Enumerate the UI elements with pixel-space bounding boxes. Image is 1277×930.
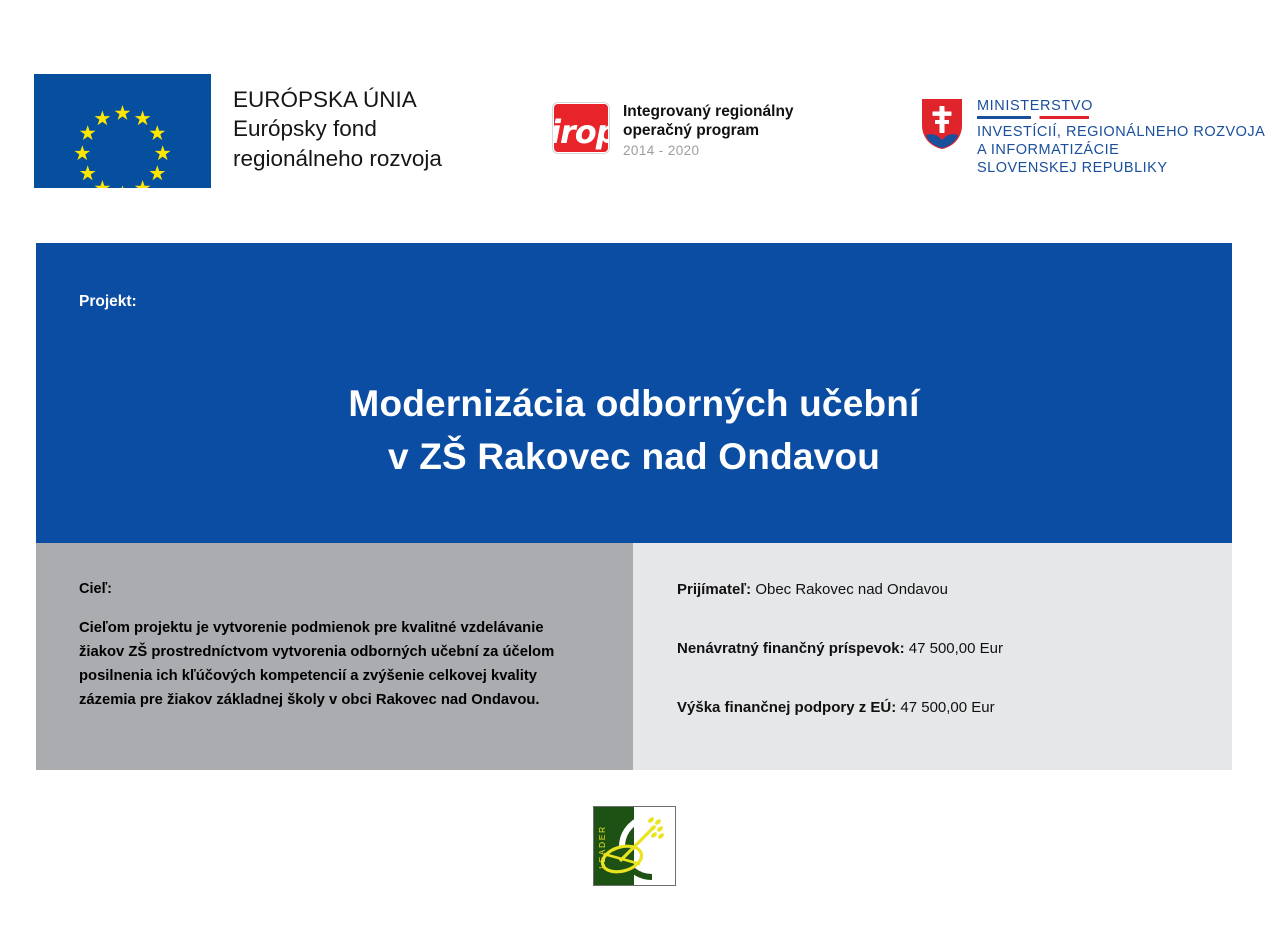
irop-wordmark: irop: [553, 116, 609, 148]
irop-logo-icon: irop: [551, 101, 609, 153]
info-label-beneficiary: Prijímateľ:: [677, 581, 751, 598]
irop-period: 2014 - 2020: [623, 143, 794, 158]
logo-header-strip: EURÓPSKA ÚNIA Európsky fond regionálneho…: [0, 0, 1277, 230]
info-row: Nenávratný finančný príspevok: 47 500,00…: [677, 640, 1232, 657]
leader-logo-block: LEADER: [593, 806, 676, 886]
info-label-grant: Nenávratný finančný príspevok:: [677, 640, 905, 657]
info-row: Výška finančnej podpory z EÚ: 47 500,00 …: [677, 699, 1232, 716]
ministry-logo-block: MINISTERSTVO INVESTÍCIÍ, REGIONÁLNEHO RO…: [920, 97, 1265, 178]
slovak-coat-of-arms-icon: [920, 97, 964, 151]
project-banner: Projekt: Modernizácia odborných učební v…: [36, 243, 1232, 543]
eu-line-2: Európsky fond: [233, 114, 442, 143]
info-row: Prijímateľ: Obec Rakovec nad Ondavou: [677, 581, 1232, 598]
project-title: Modernizácia odborných učební v ZŠ Rakov…: [36, 378, 1232, 483]
irop-line-1: Integrovaný regionálny: [623, 103, 794, 122]
eu-logo-text: EURÓPSKA ÚNIA Európsky fond regionálneho…: [233, 74, 442, 173]
leader-wordmark: LEADER: [597, 825, 607, 869]
info-value-eu-support: 47 500,00 Eur: [900, 699, 994, 716]
project-label: Projekt:: [79, 293, 137, 311]
project-title-line-2: v ZŠ Rakovec nad Ondavou: [36, 431, 1232, 484]
goal-heading: Cieľ:: [79, 581, 633, 597]
ministry-logo-text: MINISTERSTVO INVESTÍCIÍ, REGIONÁLNEHO RO…: [977, 97, 1265, 178]
ministry-line-3: SLOVENSKEJ REPUBLIKY: [977, 159, 1265, 177]
ministry-divider: [977, 116, 1089, 119]
info-value-beneficiary: Obec Rakovec nad Ondavou: [755, 581, 948, 598]
info-value-grant: 47 500,00 Eur: [909, 640, 1003, 657]
irop-logo-block: irop Integrovaný regionálny operačný pro…: [551, 101, 794, 158]
eu-line-3: regionálneho rozvoja: [233, 144, 442, 173]
info-panel: Prijímateľ: Obec Rakovec nad Ondavou Nen…: [633, 543, 1232, 770]
eu-logo-block: EURÓPSKA ÚNIA Európsky fond regionálneho…: [34, 74, 442, 188]
project-title-line-1: Modernizácia odborných učební: [36, 378, 1232, 431]
goal-panel: Cieľ: Cieľom projektu je vytvorenie podm…: [36, 543, 633, 770]
leader-logo-icon: LEADER: [593, 806, 676, 886]
project-card: Projekt: Modernizácia odborných učební v…: [36, 243, 1232, 770]
eu-line-1: EURÓPSKA ÚNIA: [233, 85, 442, 114]
ministry-title: MINISTERSTVO: [977, 98, 1265, 114]
irop-logo-text: Integrovaný regionálny operačný program …: [623, 101, 794, 158]
eu-flag-icon: [34, 74, 211, 188]
detail-panels: Cieľ: Cieľom projektu je vytvorenie podm…: [36, 543, 1232, 770]
irop-line-2: operačný program: [623, 122, 794, 141]
info-label-eu-support: Výška finančnej podpory z EÚ:: [677, 699, 896, 716]
goal-body: Cieľom projektu je vytvorenie podmienok …: [79, 617, 579, 713]
ministry-line-2: A INFORMATIZÁCIE: [977, 141, 1265, 159]
ministry-line-1: INVESTÍCIÍ, REGIONÁLNEHO ROZVOJA: [977, 123, 1265, 141]
